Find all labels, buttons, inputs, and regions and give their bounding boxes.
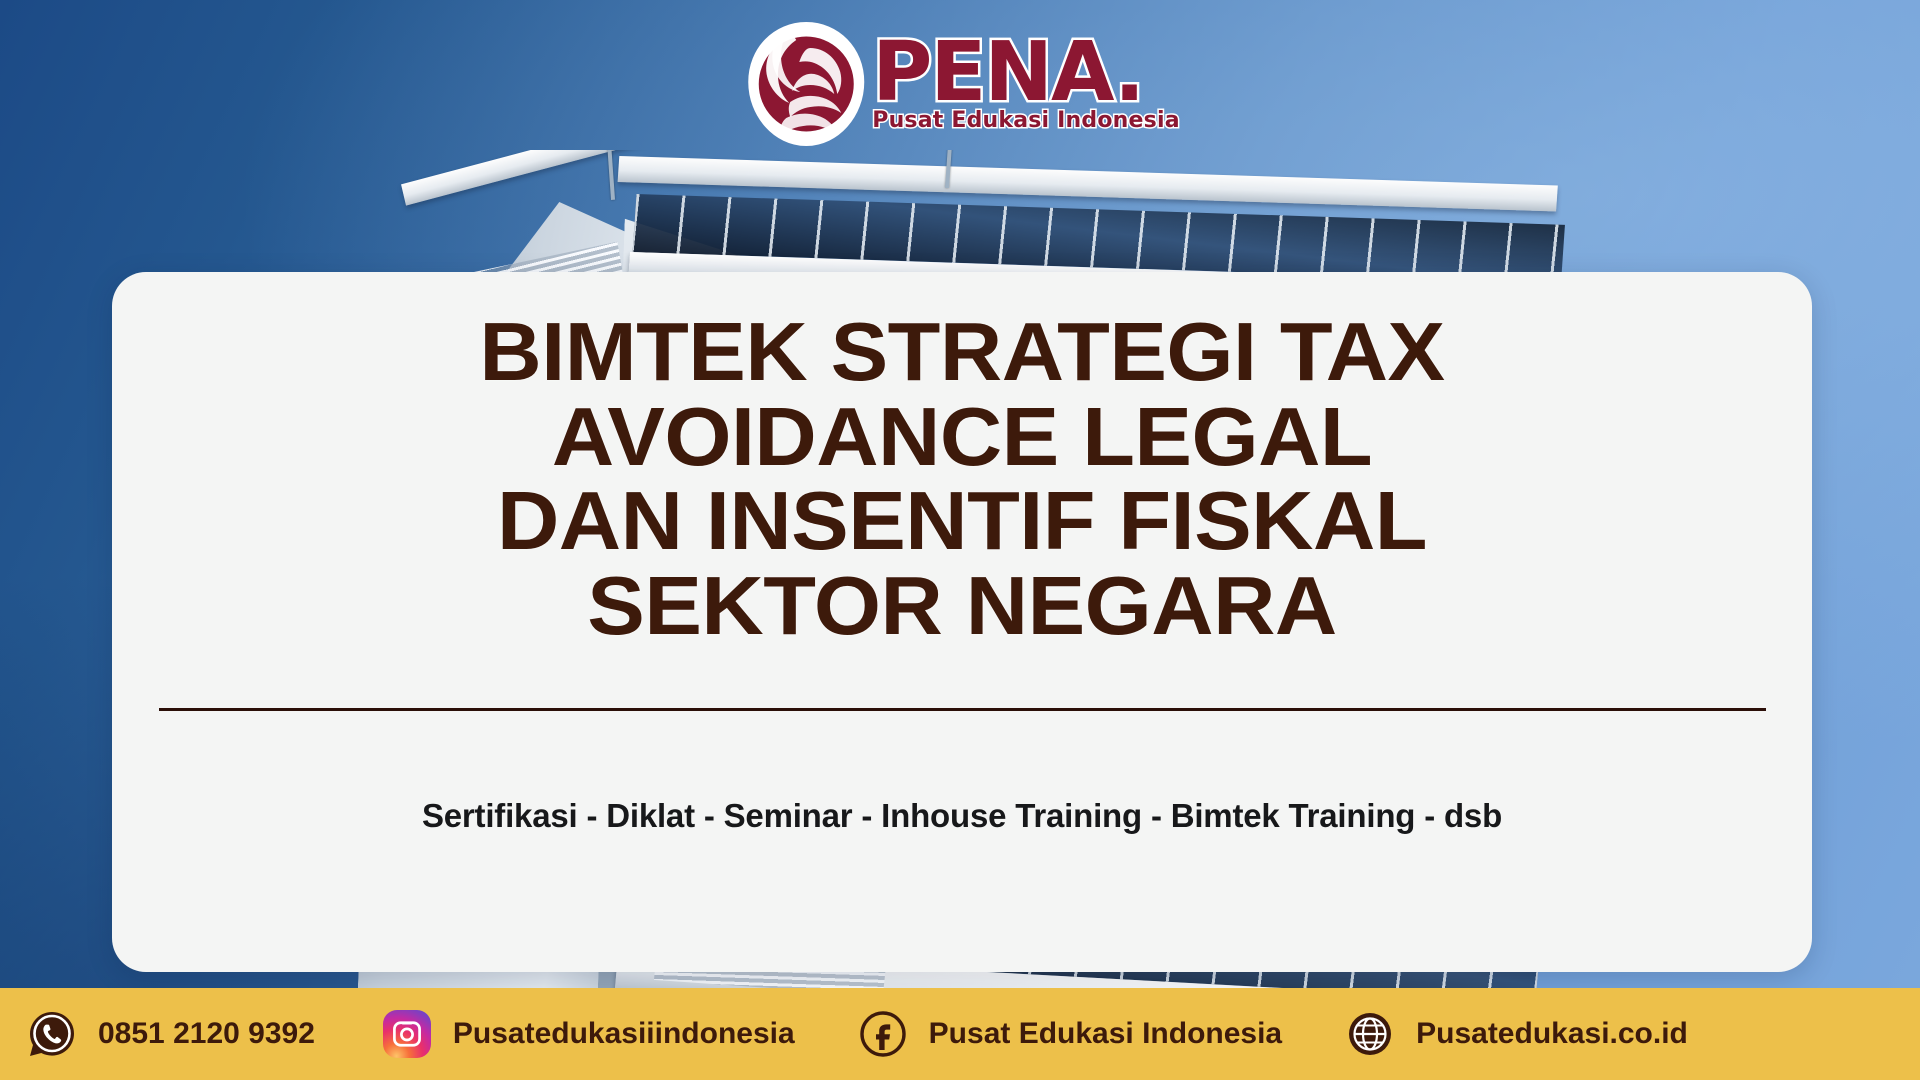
globe-icon — [1346, 1010, 1394, 1058]
contact-facebook[interactable]: Pusat Edukasi Indonesia — [859, 1010, 1282, 1058]
contact-footer-bar: 0851 2120 9392 Pusatedukasiiindonesia Pu… — [0, 988, 1920, 1080]
title-line-3: DAN INSENTIF FISKAL — [126, 479, 1798, 564]
contact-instagram[interactable]: Pusatedukasiiindonesia — [383, 1010, 795, 1058]
instagram-icon — [383, 1010, 431, 1058]
title-line-1: BIMTEK STRATEGI TAX — [126, 310, 1798, 395]
title-divider — [159, 708, 1766, 711]
contact-website[interactable]: Pusatedukasi.co.id — [1346, 1010, 1688, 1058]
instagram-handle: Pusatedukasiiindonesia — [453, 1017, 795, 1051]
whatsapp-number: 0851 2120 9392 — [98, 1017, 315, 1051]
title-line-4: SEKTOR NEGARA — [126, 564, 1798, 649]
facebook-page: Pusat Edukasi Indonesia — [929, 1017, 1282, 1051]
facebook-icon — [859, 1010, 907, 1058]
pena-logo: PENA. Pusat Edukasi Indonesia — [740, 18, 1180, 150]
pena-flame-circle-logo-icon — [740, 18, 872, 150]
roof-antenna — [606, 150, 615, 200]
title-line-2: AVOIDANCE LEGAL — [126, 395, 1798, 480]
contact-whatsapp[interactable]: 0851 2120 9392 — [28, 1010, 315, 1058]
website-url: Pusatedukasi.co.id — [1416, 1017, 1688, 1051]
logo-wordmark: PENA. — [872, 35, 1143, 110]
logo-tagline: Pusat Edukasi Indonesia — [872, 108, 1180, 133]
poster-canvas: PENA. Pusat Edukasi Indonesia BIMTEK STR… — [0, 0, 1920, 1080]
page-title: BIMTEK STRATEGI TAX AVOIDANCE LEGAL DAN … — [126, 310, 1798, 649]
whatsapp-icon — [28, 1010, 76, 1058]
content-card: BIMTEK STRATEGI TAX AVOIDANCE LEGAL DAN … — [112, 272, 1812, 972]
services-subtitle: Sertifikasi - Diklat - Seminar - Inhouse… — [422, 797, 1502, 835]
logo-text-block: PENA. Pusat Edukasi Indonesia — [872, 35, 1180, 133]
